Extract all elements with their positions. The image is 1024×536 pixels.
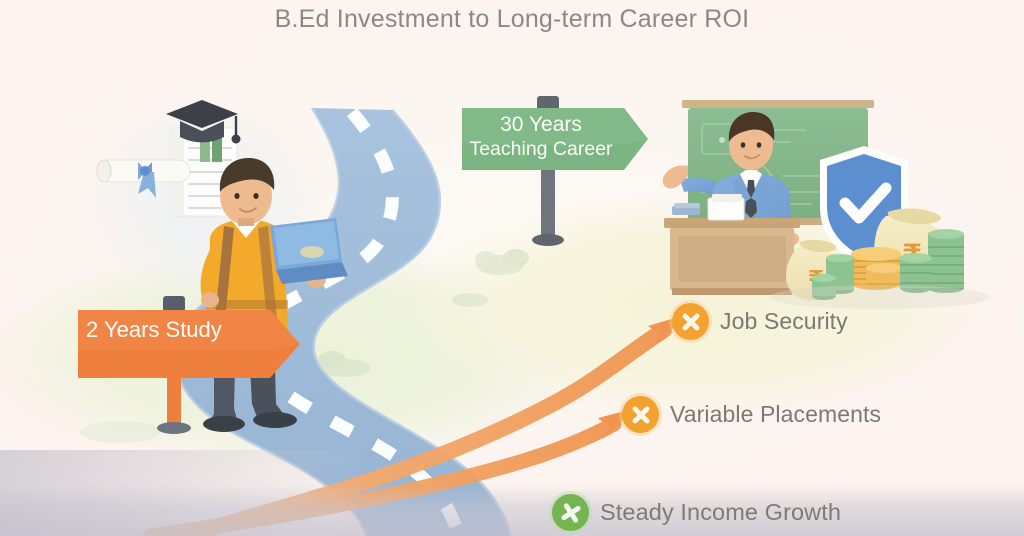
outcome-label: Job Security (720, 308, 848, 335)
page-title: B.Ed Investment to Long-term Career ROI (0, 0, 1024, 36)
cross-mark-icon (622, 396, 659, 433)
milestone-signpost (462, 96, 648, 246)
gold-coin-stacks (851, 247, 902, 290)
outcome-variable-placements[interactable]: Variable Placements (622, 396, 881, 433)
teaching-career-scene: ₹ ₹ (663, 100, 990, 309)
laptop-icon (270, 218, 348, 284)
infographic-canvas: ₹ ₹ (0, 0, 1024, 536)
cross-mark-icon (552, 494, 589, 531)
outcome-label: Steady Income Growth (600, 499, 841, 526)
outcome-job-security[interactable]: Job Security (672, 303, 848, 340)
illustration-layer: ₹ ₹ (0, 0, 1024, 536)
outcome-label: Variable Placements (670, 401, 881, 428)
cross-mark-icon (672, 303, 709, 340)
outcome-steady-income-growth[interactable]: Steady Income Growth (552, 494, 841, 531)
